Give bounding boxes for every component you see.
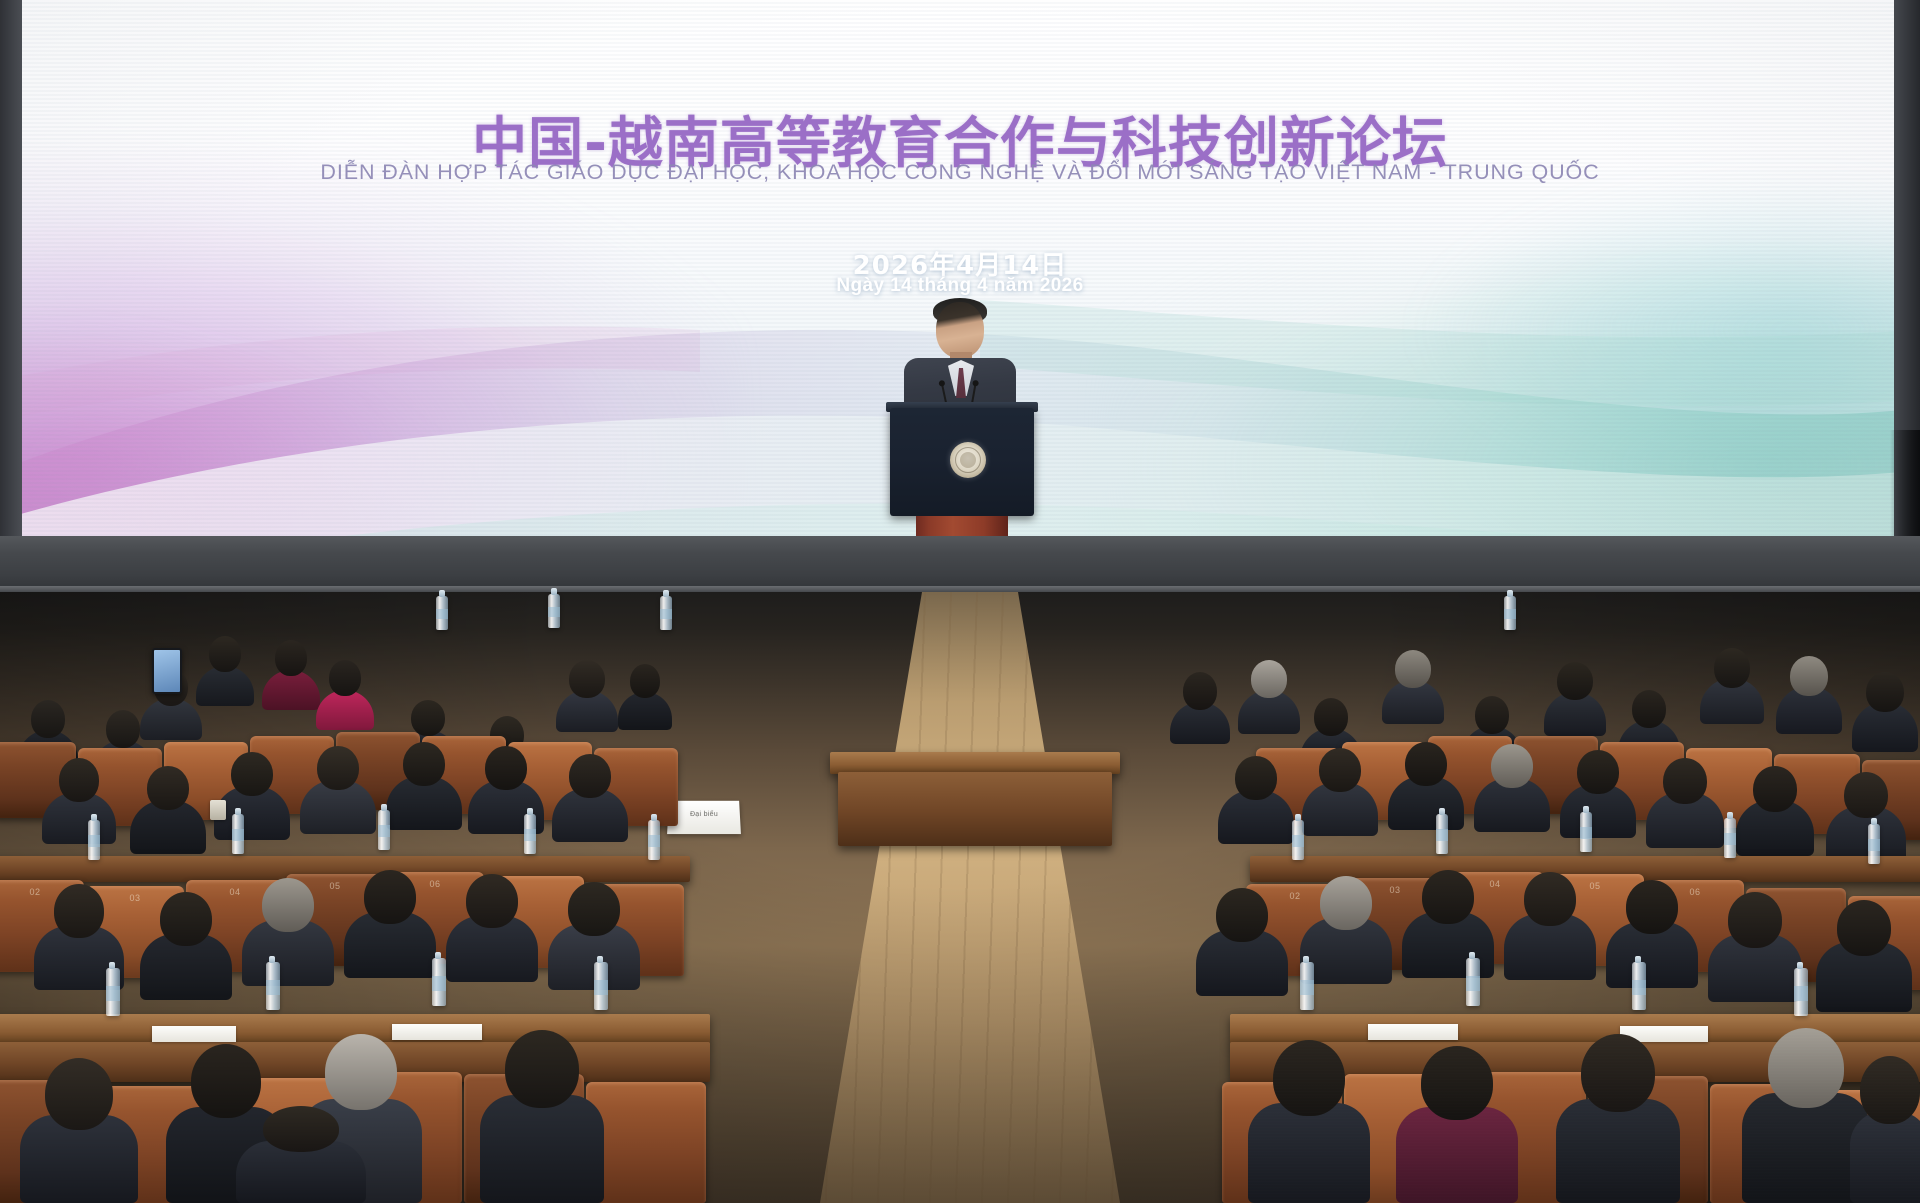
audience-member: [480, 1030, 604, 1203]
water-bottle: [1580, 812, 1592, 852]
audience-member: [1646, 758, 1724, 848]
smartphone-screen: [152, 648, 182, 694]
audience-member: [1816, 900, 1912, 1012]
audience-member: [242, 878, 334, 986]
audience-member: [1556, 1034, 1680, 1203]
audience-member: [140, 892, 232, 1000]
audience-member: [236, 1106, 366, 1203]
water-bottle: [432, 958, 446, 1006]
water-bottle: [436, 596, 448, 630]
audience-member: [1218, 756, 1294, 844]
audience-member: [1708, 892, 1802, 1002]
audience-member: [1302, 748, 1378, 836]
audience-member: [1850, 1056, 1920, 1203]
audience-member: [1248, 1040, 1370, 1203]
audience-member: [196, 636, 254, 706]
audience-member: [1402, 870, 1494, 978]
water-bottle: [1436, 814, 1448, 854]
audience-member: [1560, 750, 1636, 838]
water-bottle: [88, 820, 100, 860]
seat-number: 02: [1289, 891, 1300, 901]
water-bottle: [1504, 596, 1516, 630]
audience-member: [1504, 872, 1596, 980]
seat-number: 03: [129, 893, 140, 903]
front-table: [830, 752, 1120, 774]
desk-document: [1368, 1024, 1458, 1040]
audience-member: [1852, 672, 1918, 752]
audience-member: [300, 746, 376, 834]
audience-member: [1776, 656, 1842, 734]
water-bottle: [378, 810, 390, 850]
audience-member: [20, 1058, 138, 1203]
audience-member: [130, 766, 206, 854]
name-card-text: Đại biểu: [668, 811, 740, 818]
conference-hall-scene: 中国-越南高等教育合作与科技创新论坛 DIỄN ĐÀN HỢP TÁC GIÁO…: [0, 0, 1920, 1203]
audience-member: [316, 660, 374, 730]
audience-member: [446, 874, 538, 982]
audience-member: [1606, 880, 1698, 988]
audience-member: [1826, 772, 1906, 864]
delegate-name-card: Đại biểu: [667, 801, 741, 834]
audience-member: [556, 660, 618, 732]
audience-member: [42, 758, 116, 844]
audience-member: [1238, 660, 1300, 734]
water-bottle: [548, 594, 560, 628]
water-bottle: [524, 814, 536, 854]
water-bottle: [1868, 824, 1880, 864]
water-bottle: [106, 968, 120, 1016]
water-bottle: [232, 814, 244, 854]
water-bottle: [1300, 962, 1314, 1010]
water-bottle: [648, 820, 660, 860]
audience-member: [1382, 650, 1444, 724]
audience-member: [552, 754, 628, 842]
water-bottle: [266, 962, 280, 1010]
water-bottle: [1466, 958, 1480, 1006]
national-emblem-icon: [950, 442, 986, 478]
audience-member: [1170, 672, 1230, 744]
audience-member: [1544, 662, 1606, 736]
water-bottle: [1632, 962, 1646, 1010]
audience-member: [1396, 1046, 1518, 1203]
water-bottle: [660, 596, 672, 630]
water-bottle: [1724, 818, 1736, 858]
audience-member: [1474, 744, 1550, 832]
audience-member: [1700, 648, 1764, 724]
water-bottle: [594, 962, 608, 1010]
desk-document: [152, 1026, 236, 1042]
audience-member: [344, 870, 436, 978]
front-table-panel: [838, 772, 1112, 846]
stage-front-band: [0, 536, 1920, 592]
lanyard-badge: [210, 800, 226, 820]
audience-member: [1736, 766, 1814, 856]
audience-member: [1196, 888, 1288, 996]
audience-member: [386, 742, 462, 830]
audience-member: [214, 752, 290, 840]
speaker-head: [936, 302, 984, 358]
forum-title-vietnamese: DIỄN ĐÀN HỢP TÁC GIÁO DỤC ĐẠI HỌC, KHOA …: [0, 160, 1920, 185]
audience-member: [1388, 742, 1464, 830]
auditorium-seat[interactable]: [586, 1082, 706, 1203]
audience-member: [262, 640, 320, 710]
audience-member: [618, 664, 672, 730]
water-bottle: [1292, 820, 1304, 860]
water-bottle: [1794, 968, 1808, 1016]
